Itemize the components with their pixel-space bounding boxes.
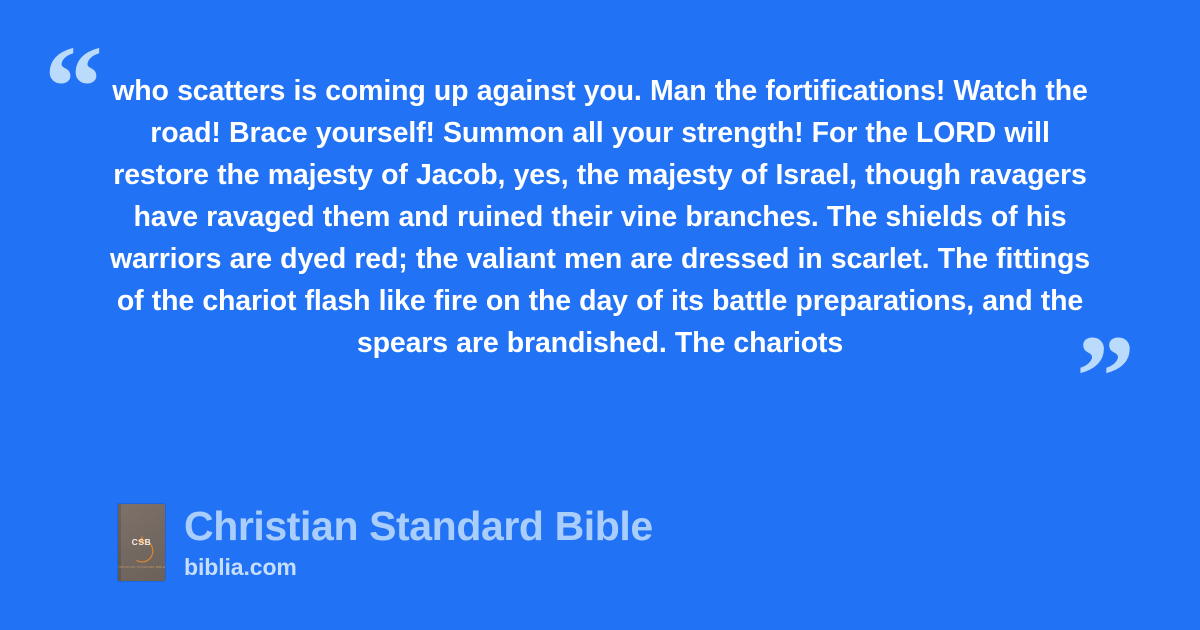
source-url[interactable]: biblia.com <box>184 552 653 582</box>
quote-body: who scatters is coming up against you. M… <box>110 70 1090 364</box>
attribution-footer: CSB CHRISTIAN STANDARD BIBLE Christian S… <box>118 502 653 582</box>
attribution-text-block: Christian Standard Bible biblia.com <box>184 502 653 582</box>
close-quote-icon: ” <box>1076 318 1135 436</box>
csb-book-cover-icon: CSB CHRISTIAN STANDARD BIBLE <box>118 504 165 581</box>
quote-text: who scatters is coming up against you. M… <box>110 70 1090 364</box>
source-title: Christian Standard Bible <box>184 502 653 550</box>
quote-card: “ who scatters is coming up against you.… <box>0 0 1200 630</box>
open-quote-icon: “ <box>44 28 103 146</box>
csb-sub-label: CHRISTIAN STANDARD BIBLE <box>118 564 165 568</box>
csb-label: CSB <box>118 537 165 547</box>
